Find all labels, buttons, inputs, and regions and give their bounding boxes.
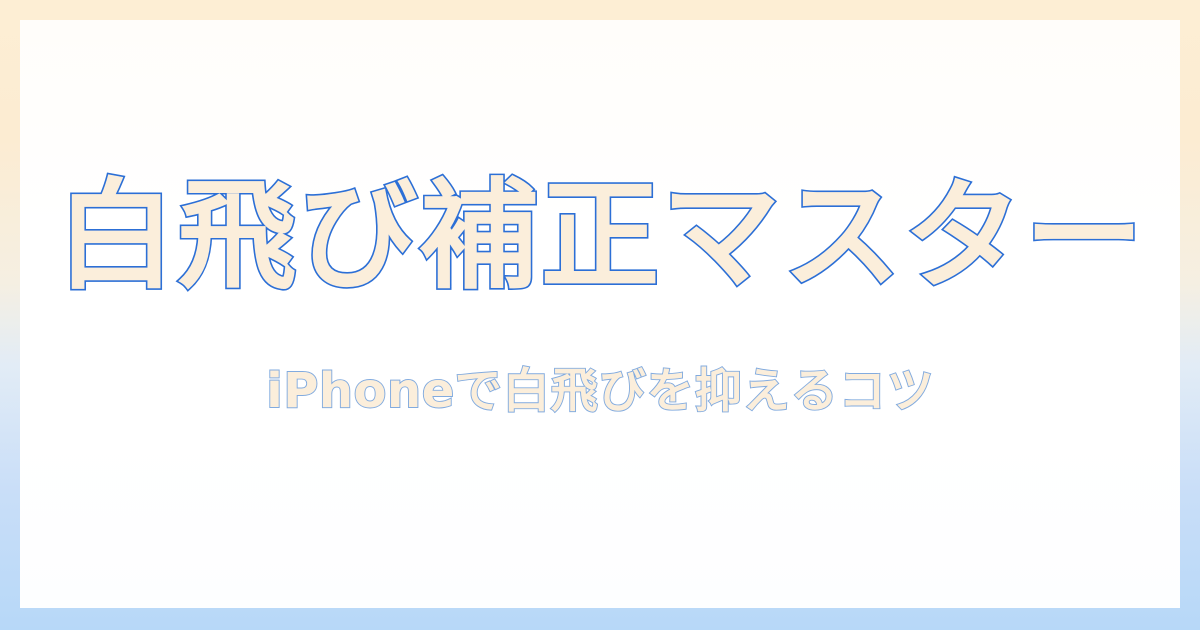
subtitle-char-13: る (791, 367, 838, 416)
title-char-6: ス (783, 176, 902, 300)
subtitle-char-2: h (319, 366, 353, 416)
page-subtitle: iPhoneで白飛びを抑えるコツ (266, 366, 935, 416)
subtitle-char-5: e (422, 366, 454, 416)
subtitle-char-8: 飛 (551, 367, 598, 416)
title-char-0: 白 (57, 176, 176, 300)
title-char-3: 補 (420, 176, 539, 300)
text-stack: 白飛び補正マスター iPhoneで白飛びを抑えるコツ (20, 176, 1180, 416)
title-char-2: び (299, 176, 418, 300)
subtitle-char-6: で (455, 367, 502, 416)
page-title: 白飛び補正マスター (56, 176, 1145, 300)
subtitle-char-15: ツ (887, 367, 934, 416)
subtitle-char-7: 白 (503, 367, 550, 416)
title-char-4: 正 (541, 176, 660, 300)
title-char-1: 飛 (178, 176, 297, 300)
subtitle-char-11: 抑 (695, 367, 742, 416)
title-char-8: ー (1025, 176, 1144, 300)
subtitle-char-12: え (743, 367, 790, 416)
subtitle-char-0: i (266, 366, 282, 416)
subtitle-char-14: コ (839, 367, 886, 416)
subtitle-char-9: び (599, 367, 646, 416)
title-char-7: タ (904, 176, 1023, 300)
subtitle-char-3: o (354, 366, 386, 416)
eyecatch-card: 白飛び補正マスター iPhoneで白飛びを抑えるコツ (0, 0, 1200, 630)
subtitle-char-4: n (387, 366, 421, 416)
inner-white-panel: 白飛び補正マスター iPhoneで白飛びを抑えるコツ (20, 20, 1180, 608)
title-char-5: マ (662, 176, 781, 300)
subtitle-char-10: を (647, 367, 694, 416)
subtitle-char-1: P (283, 366, 318, 416)
